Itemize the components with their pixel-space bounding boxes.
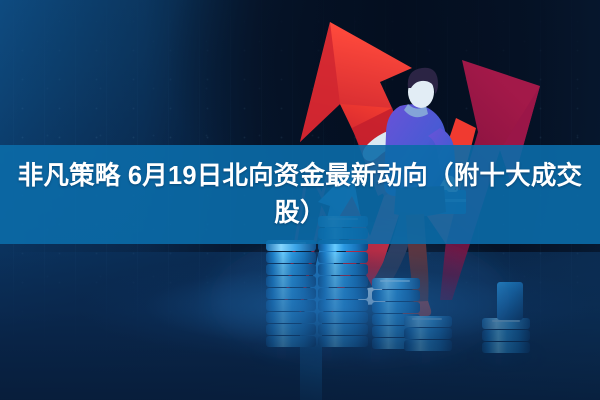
title-overlay-bar: 非凡策略 6月19日北向资金最新动向（附十大成交股） <box>0 145 600 244</box>
thumbnail-image: 非凡策略 6月19日北向资金最新动向（附十大成交股） <box>0 0 600 400</box>
floor-glow <box>0 250 600 400</box>
headline-text: 非凡策略 6月19日北向资金最新动向（附十大成交股） <box>4 158 596 230</box>
